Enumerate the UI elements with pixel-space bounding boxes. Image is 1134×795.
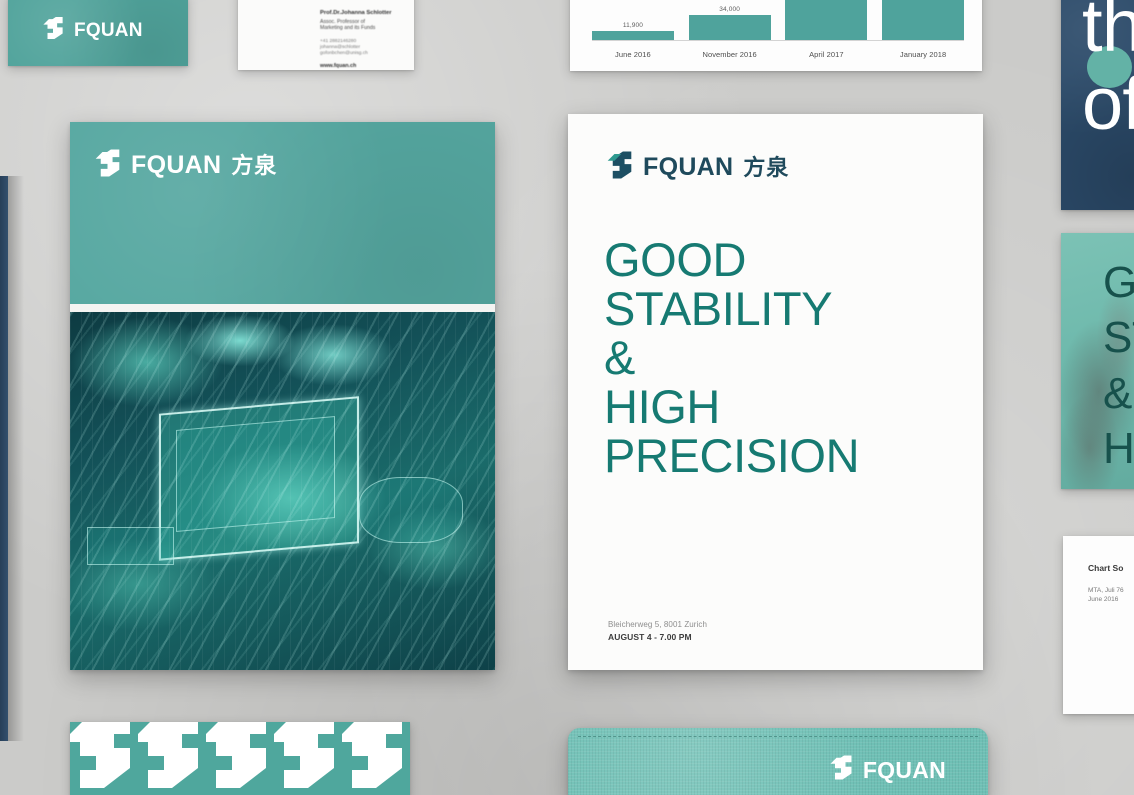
pattern-logo-unit bbox=[70, 722, 138, 795]
folder-stitch-line bbox=[578, 736, 978, 738]
pattern-card[interactable] bbox=[70, 722, 410, 795]
logo-lockup: FQUAN 方泉 bbox=[606, 150, 789, 185]
navy-line-1: th bbox=[1082, 0, 1134, 61]
navy-line-2: of bbox=[1082, 68, 1134, 139]
chart-bar bbox=[592, 31, 674, 40]
chart-value-label: 34,000 bbox=[719, 6, 740, 13]
pcb-round-component bbox=[359, 477, 463, 543]
event-poster[interactable]: FQUAN 方泉 GOODSTABILITY&HIGHPRECISION Ble… bbox=[568, 114, 983, 670]
bc-role-line-2: Marketing and its Funds bbox=[320, 25, 404, 31]
navy-edge-sliver-shadow bbox=[8, 176, 24, 741]
chart-x-axis-labels: June 2016November 2016April 2017January … bbox=[592, 50, 964, 59]
chart-x-tick: January 2018 bbox=[882, 50, 964, 59]
source-line-2: June 2016 bbox=[1088, 595, 1124, 604]
chart-x-tick: November 2016 bbox=[689, 50, 771, 59]
poster-headline-line-4: HIGH bbox=[604, 383, 963, 432]
poster-right-line-2: ST bbox=[1103, 310, 1134, 365]
product-brochure[interactable]: FQUAN 方泉 bbox=[70, 122, 495, 670]
pcb-side-component bbox=[87, 527, 174, 565]
chart-bar bbox=[882, 0, 964, 40]
white-business-card[interactable]: technology co. Prof.Dr.Johanna Schlotter… bbox=[238, 0, 414, 70]
logo-wordmark-cn: 方泉 bbox=[231, 155, 277, 177]
poster-footer: Bleicherweg 5, 8001 Zurich AUGUST 4 - 7.… bbox=[608, 619, 707, 644]
chart-bar bbox=[785, 0, 867, 40]
fquan-logo-repeat-pattern bbox=[70, 722, 410, 795]
logo-lockup: FQUAN bbox=[829, 754, 946, 786]
chart-bar-column bbox=[882, 0, 964, 40]
teal-poster-right[interactable]: GOST&HIPR bbox=[1061, 233, 1134, 489]
logo-wordmark: FQUAN bbox=[74, 21, 143, 40]
chart-plot-area: 11,90034,000 bbox=[592, 0, 964, 41]
poster-right-line-1: GO bbox=[1103, 255, 1134, 310]
poster-address: Bleicherweg 5, 8001 Zurich bbox=[608, 619, 707, 631]
fquan-double-arrow-logo bbox=[94, 148, 121, 183]
source-card-body: MTA, Juli 76 June 2016 bbox=[1088, 586, 1124, 605]
source-line-1: MTA, Juli 76 bbox=[1088, 586, 1124, 595]
brochure-header-band: FQUAN 方泉 bbox=[70, 122, 495, 304]
logo-lockup: FQUAN 方泉 bbox=[94, 148, 277, 183]
branding-mockup-canvas: FQUAN technology co. Prof.Dr.Johanna Sch… bbox=[0, 0, 1134, 795]
poster-right-headline: GOST&HIPR bbox=[1103, 255, 1134, 489]
fquan-double-arrow-logo bbox=[42, 16, 64, 45]
logo-wordmark: FQUAN bbox=[863, 759, 946, 782]
bc-website[interactable]: www.fquan.ch bbox=[320, 63, 404, 70]
chart-bar bbox=[689, 15, 771, 40]
poster-right-line-5: PR bbox=[1103, 477, 1134, 489]
poster-right-line-3: & bbox=[1103, 366, 1134, 421]
poster-right-line-4: HI bbox=[1103, 421, 1134, 476]
bc-corner-label: technology co. bbox=[248, 0, 404, 1]
teal-business-card[interactable]: FQUAN bbox=[8, 0, 188, 66]
fquan-double-arrow-logo bbox=[606, 150, 633, 185]
bar-chart: 11,90034,000 bbox=[592, 0, 964, 41]
logo-wordmark: FQUAN bbox=[643, 155, 733, 180]
chart-value-label: 11,900 bbox=[623, 22, 643, 29]
poster-headline: GOODSTABILITY&HIGHPRECISION bbox=[604, 236, 963, 480]
logo-lockup: FQUAN bbox=[42, 16, 143, 45]
pattern-logo-unit bbox=[206, 722, 274, 795]
poster-headline-line-2: STABILITY bbox=[604, 285, 963, 334]
logo-wordmark: FQUAN bbox=[131, 153, 221, 178]
chart-x-tick: April 2017 bbox=[785, 50, 867, 59]
navy-edge-sliver bbox=[0, 176, 8, 741]
chart-bar-column: 11,900 bbox=[592, 0, 674, 40]
poster-headline-line-5: PRECISION bbox=[604, 432, 963, 481]
chart-source-card[interactable]: Chart So MTA, Juli 76 June 2016 bbox=[1063, 536, 1134, 714]
bc-name: Prof.Dr.Johanna Schlotter bbox=[320, 10, 404, 17]
chart-x-tick: June 2016 bbox=[592, 50, 674, 59]
pattern-logo-unit bbox=[274, 722, 342, 795]
poster-datetime: AUGUST 4 - 7.00 PM bbox=[608, 631, 707, 644]
pcb-main-chip bbox=[159, 396, 359, 561]
poster-headline-line-1: GOOD bbox=[604, 236, 963, 285]
pattern-logo-unit bbox=[342, 722, 410, 795]
poster-headline-line-3: & bbox=[604, 334, 963, 383]
navy-poster-card[interactable]: th of bbox=[1061, 0, 1134, 210]
chart-bar-column: 34,000 bbox=[689, 0, 771, 40]
fquan-double-arrow-logo bbox=[829, 754, 853, 786]
logo-wordmark-cn: 方泉 bbox=[743, 157, 789, 179]
circuit-board-photo bbox=[70, 312, 495, 670]
chart-report-card[interactable]: 11,90034,000 June 2016November 2016April… bbox=[570, 0, 982, 71]
fabric-folder[interactable]: FQUAN bbox=[568, 728, 988, 795]
pcb-inner-chip bbox=[176, 416, 335, 532]
pattern-logo-unit bbox=[138, 722, 206, 795]
source-card-title: Chart So bbox=[1088, 563, 1123, 573]
chart-bar-column bbox=[785, 0, 867, 40]
bc-contact-line-3: gofonbchen@unisg.ch bbox=[320, 51, 404, 57]
